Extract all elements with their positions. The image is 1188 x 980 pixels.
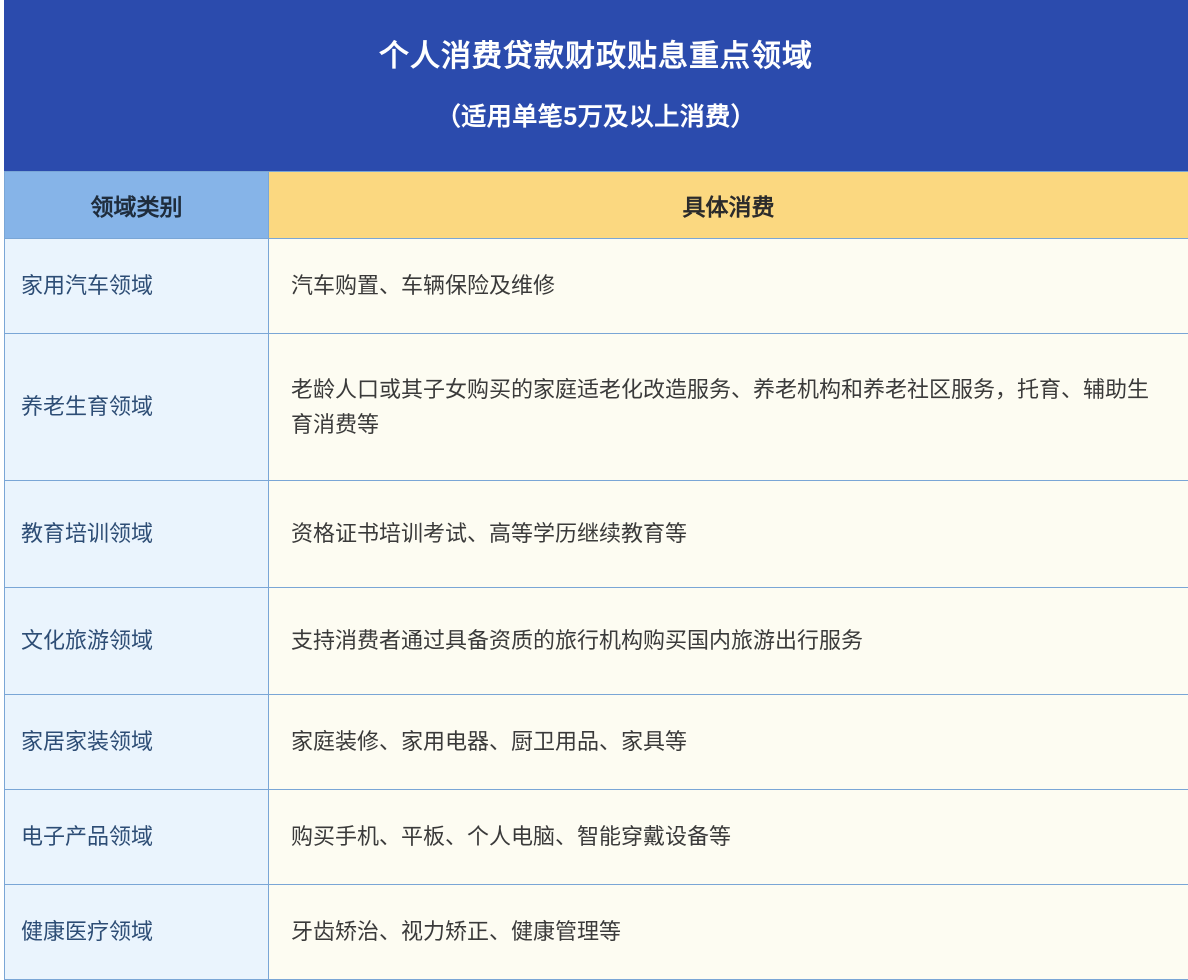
- header-banner: 个人消费贷款财政贴息重点领域 （适用单笔5万及以上消费）: [4, 0, 1188, 171]
- column-header-detail: 具体消费: [269, 172, 1188, 239]
- infographic-root: 个人消费贷款财政贴息重点领域 （适用单笔5万及以上消费） 领域类别 具体消费 家…: [0, 0, 1188, 788]
- column-header-category: 领域类别: [5, 172, 269, 239]
- cell-detail: 支持消费者通过具备资质的旅行机构购买国内旅游出行服务: [269, 588, 1188, 695]
- cell-category: 家用汽车领域: [5, 239, 269, 334]
- cell-category: 家居家装领域: [5, 695, 269, 790]
- table-header: 领域类别 具体消费: [5, 172, 1188, 239]
- cell-detail: 老龄人口或其子女购买的家庭适老化改造服务、养老机构和养老社区服务，托育、辅助生育…: [269, 334, 1188, 481]
- policy-table: 领域类别 具体消费 家用汽车领域 汽车购置、车辆保险及维修 养老生育领域 老龄人…: [4, 171, 1188, 980]
- cell-category: 教育培训领域: [5, 481, 269, 588]
- table-body: 家用汽车领域 汽车购置、车辆保险及维修 养老生育领域 老龄人口或其子女购买的家庭…: [5, 239, 1188, 980]
- table-row: 家居家装领域 家庭装修、家用电器、厨卫用品、家具等: [5, 695, 1188, 790]
- cell-detail: 牙齿矫治、视力矫正、健康管理等: [269, 885, 1188, 980]
- cell-category: 养老生育领域: [5, 334, 269, 481]
- table-row: 电子产品领域 购买手机、平板、个人电脑、智能穿戴设备等: [5, 790, 1188, 885]
- table-row: 文化旅游领域 支持消费者通过具备资质的旅行机构购买国内旅游出行服务: [5, 588, 1188, 695]
- cell-detail: 家庭装修、家用电器、厨卫用品、家具等: [269, 695, 1188, 790]
- cell-category: 文化旅游领域: [5, 588, 269, 695]
- table-row: 家用汽车领域 汽车购置、车辆保险及维修: [5, 239, 1188, 334]
- page-title: 个人消费贷款财政贴息重点领域: [379, 38, 813, 76]
- table-row: 教育培训领域 资格证书培训考试、高等学历继续教育等: [5, 481, 1188, 588]
- table-header-row: 领域类别 具体消费: [5, 172, 1188, 239]
- page-subtitle: （适用单笔5万及以上消费）: [436, 102, 756, 133]
- cell-detail: 购买手机、平板、个人电脑、智能穿戴设备等: [269, 790, 1188, 885]
- cell-detail: 汽车购置、车辆保险及维修: [269, 239, 1188, 334]
- cell-detail: 资格证书培训考试、高等学历继续教育等: [269, 481, 1188, 588]
- cell-category: 电子产品领域: [5, 790, 269, 885]
- table-row: 健康医疗领域 牙齿矫治、视力矫正、健康管理等: [5, 885, 1188, 980]
- table-row: 养老生育领域 老龄人口或其子女购买的家庭适老化改造服务、养老机构和养老社区服务，…: [5, 334, 1188, 481]
- cell-category: 健康医疗领域: [5, 885, 269, 980]
